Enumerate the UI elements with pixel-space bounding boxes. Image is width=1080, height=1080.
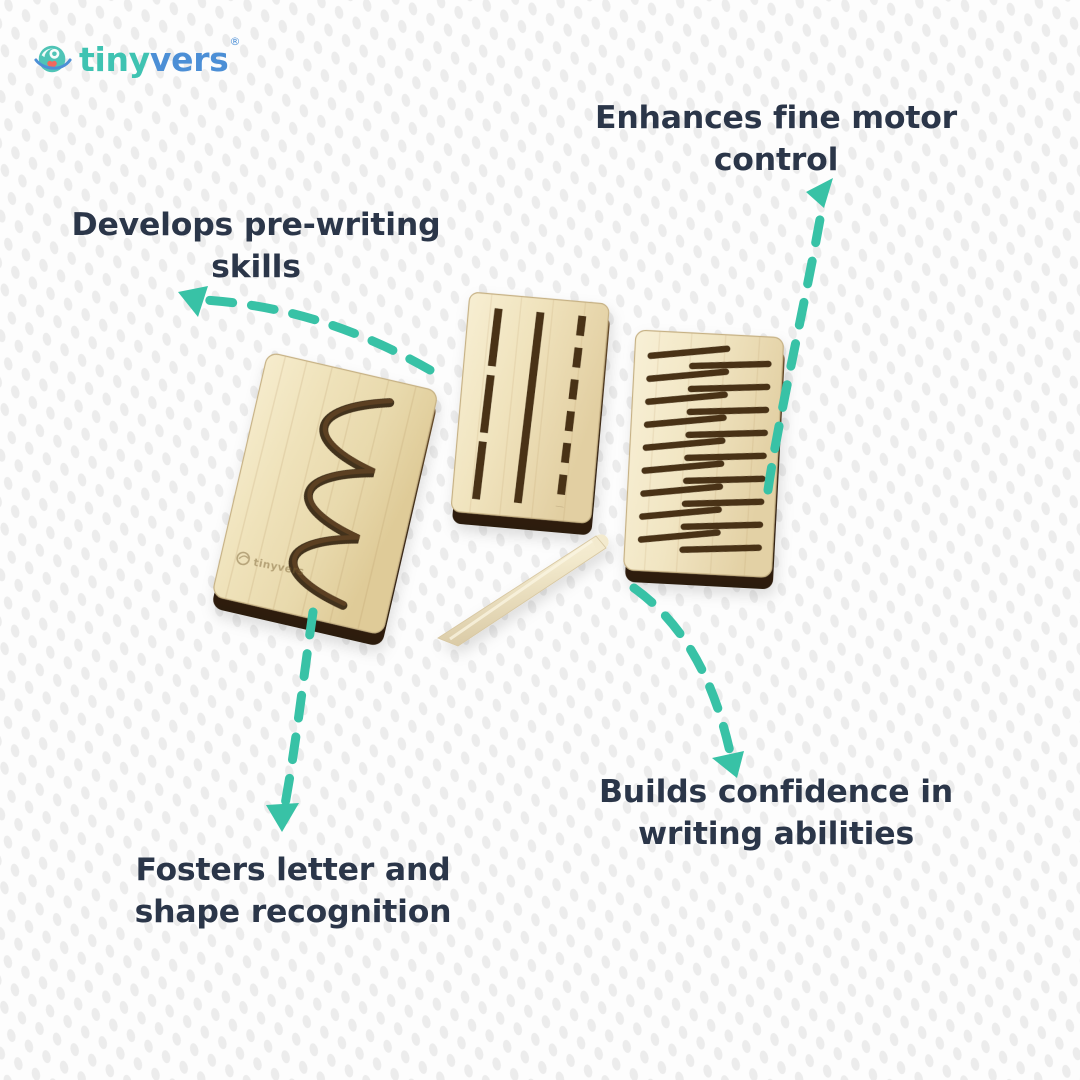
benefit-label-fosters-letter-and-shape-recognition: Fosters letter and shape recognition [88, 850, 498, 934]
benefit-label-develops-pre-writing-skills: Develops pre-writing skills [56, 205, 456, 289]
brand-name-part2: vers [150, 40, 229, 79]
arrow-head-letter-shape-recognition [266, 803, 299, 832]
arrow-path-fine-motor-control [768, 208, 822, 490]
arrow-path-pre-writing-skills [205, 300, 430, 370]
arrow-path-writing-confidence [634, 588, 730, 752]
brand-name-part1: tiny [79, 40, 150, 79]
arrow-path-letter-shape-recognition [284, 612, 313, 810]
brand-wordmark: tinyvers® [79, 43, 239, 76]
benefit-label-enhances-fine-motor-control: Enhances fine motor control [586, 98, 966, 182]
arrow-head-pre-writing-skills [178, 286, 208, 317]
brand-logo[interactable]: tinyvers® [34, 40, 239, 78]
tinyvers-planet-heart-icon [34, 40, 72, 78]
benefit-label-builds-confidence-in-writing-abilities: Builds confidence in writing abilities [586, 772, 966, 856]
registered-trademark-mark: ® [230, 35, 241, 48]
infographic-canvas: tinyvers [0, 0, 1080, 1080]
arrow-head-fine-motor-control [806, 178, 833, 208]
